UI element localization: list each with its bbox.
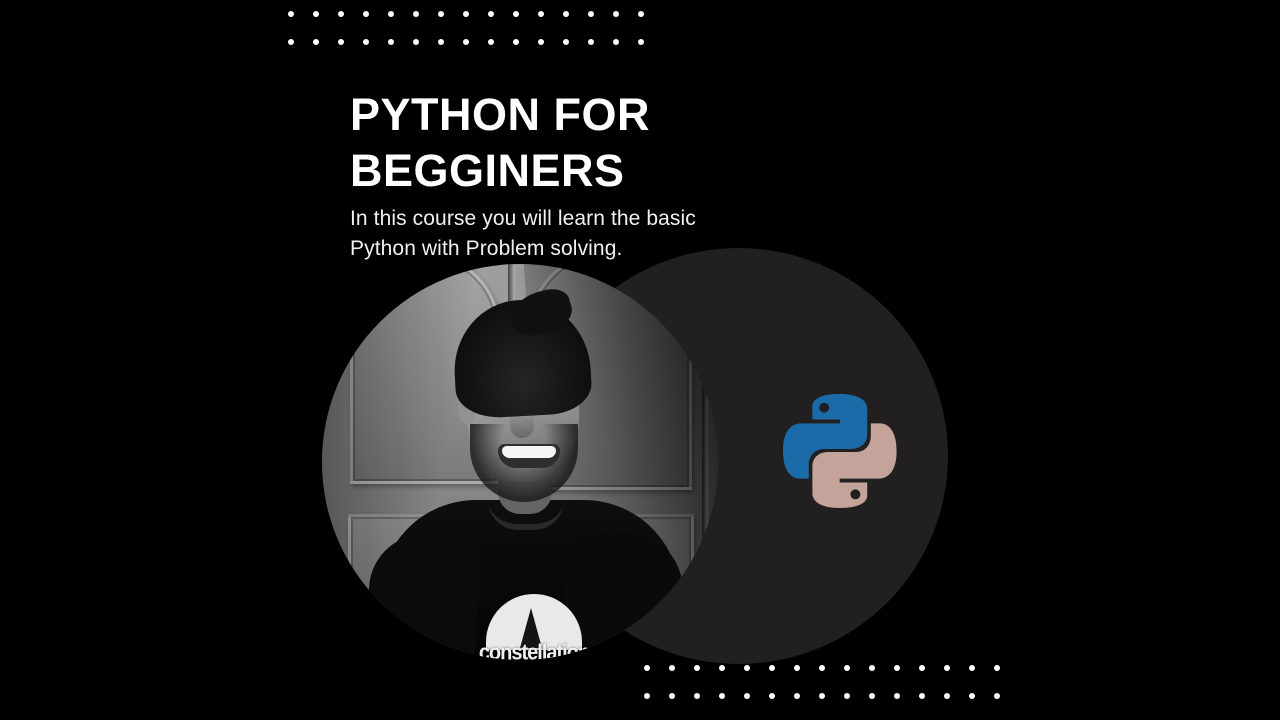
python-logo	[783, 394, 897, 508]
title-line-1: PYTHON FOR	[350, 87, 870, 143]
course-thumbnail-slide: constellation PYTHON FOR BEGGINERS In th…	[0, 0, 1280, 720]
dot	[638, 39, 644, 45]
dot	[363, 11, 369, 17]
page-title: PYTHON FOR BEGGINERS	[350, 87, 870, 199]
dot	[919, 693, 925, 699]
subtitle: In this course you will learn the basic …	[350, 204, 780, 264]
dot	[794, 693, 800, 699]
instructor-portrait: constellation	[322, 264, 718, 660]
teeth	[502, 446, 556, 458]
dot	[969, 665, 975, 671]
dot	[669, 665, 675, 671]
person-figure: constellation	[322, 264, 718, 660]
dot	[438, 39, 444, 45]
dot	[844, 665, 850, 671]
dot	[313, 11, 319, 17]
dot	[588, 11, 594, 17]
dot	[388, 39, 394, 45]
dot	[288, 11, 294, 17]
dot	[644, 665, 650, 671]
dot	[463, 11, 469, 17]
dot	[744, 665, 750, 671]
dot	[694, 693, 700, 699]
dot	[588, 39, 594, 45]
dot	[513, 11, 519, 17]
dot	[819, 693, 825, 699]
title-line-2: BEGGINERS	[350, 143, 870, 199]
dot	[969, 693, 975, 699]
subtitle-line-2: Python with Problem solving.	[350, 234, 780, 264]
subtitle-line-1: In this course you will learn the basic	[350, 204, 780, 234]
dot	[869, 665, 875, 671]
dot	[538, 39, 544, 45]
dot	[744, 693, 750, 699]
dot	[288, 39, 294, 45]
dot	[413, 39, 419, 45]
dot	[944, 665, 950, 671]
dot	[994, 693, 1000, 699]
dot	[769, 665, 775, 671]
dot	[613, 39, 619, 45]
dot	[488, 39, 494, 45]
dot	[669, 693, 675, 699]
dot	[644, 693, 650, 699]
dot	[563, 39, 569, 45]
dot	[994, 665, 1000, 671]
dot	[819, 665, 825, 671]
dot	[338, 39, 344, 45]
dot	[538, 11, 544, 17]
dot	[794, 665, 800, 671]
dot	[769, 693, 775, 699]
dot	[694, 665, 700, 671]
dot	[638, 11, 644, 17]
tshirt-print: constellation	[460, 594, 608, 660]
dot	[719, 665, 725, 671]
dot	[413, 11, 419, 17]
dot	[388, 11, 394, 17]
dot	[719, 693, 725, 699]
dot	[488, 11, 494, 17]
dot	[513, 39, 519, 45]
tshirt-print-text: constellation	[460, 641, 608, 660]
portrait-photo: constellation	[322, 264, 718, 660]
mouth	[498, 444, 560, 468]
dot	[313, 39, 319, 45]
dot	[563, 11, 569, 17]
dot	[894, 693, 900, 699]
dot	[944, 693, 950, 699]
dot	[613, 11, 619, 17]
dot	[438, 11, 444, 17]
dot	[869, 693, 875, 699]
dot	[844, 693, 850, 699]
dot	[338, 11, 344, 17]
dot	[919, 665, 925, 671]
dot	[894, 665, 900, 671]
dot	[463, 39, 469, 45]
dot	[363, 39, 369, 45]
